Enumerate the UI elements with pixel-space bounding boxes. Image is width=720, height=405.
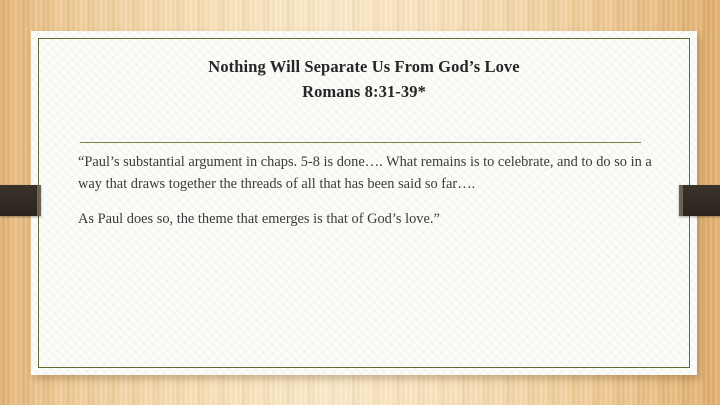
- ribbon-notch-left: [37, 185, 41, 216]
- dark-ribbon-left: [0, 185, 41, 216]
- slide-title: Nothing Will Separate Us From God’s Love…: [71, 54, 657, 104]
- slide-body-text: “Paul’s substantial argument in chaps. 5…: [78, 152, 658, 231]
- ribbon-notch-right: [679, 185, 683, 216]
- title-divider-rule: [80, 142, 641, 143]
- slide-title-line-2: Romans 8:31-39*: [71, 79, 657, 104]
- body-paragraph-2: As Paul does so, the theme that emerges …: [78, 209, 658, 231]
- slide-paper-panel: Nothing Will Separate Us From God’s Love…: [31, 31, 697, 375]
- slide-stage: Nothing Will Separate Us From God’s Love…: [0, 0, 720, 405]
- body-paragraph-1: “Paul’s substantial argument in chaps. 5…: [78, 152, 658, 195]
- dark-ribbon-right: [679, 185, 720, 216]
- slide-content: Nothing Will Separate Us From God’s Love…: [31, 31, 697, 375]
- slide-title-line-1: Nothing Will Separate Us From God’s Love: [71, 54, 657, 79]
